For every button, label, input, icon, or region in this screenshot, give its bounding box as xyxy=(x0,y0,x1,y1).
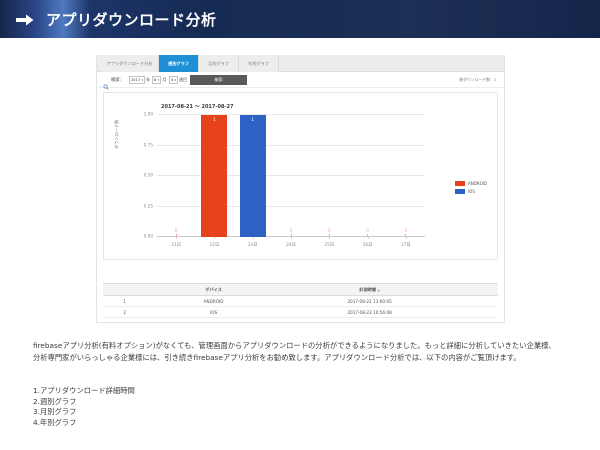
tab-bar: アプリダウンロード分析 週別グラフ 月別グラフ 年別グラフ xyxy=(97,55,504,72)
bar-value-label: 0 xyxy=(316,228,342,233)
x-axis-tick: 27日 xyxy=(401,242,411,248)
feature-list-item: 1.アプリダウンロード詳細時間 xyxy=(33,386,135,397)
bar-value-label: 0 xyxy=(393,228,419,233)
search-toolbar: 検索： 2017 ▾ 年 8 ▾ 月 4 ▾ 週目 検索 総ダウンロード数：2 xyxy=(97,72,504,88)
week-value: 4 xyxy=(171,78,173,82)
bar-value-label: 1 xyxy=(201,118,227,123)
grid-line: 1.00 xyxy=(157,114,425,115)
col-time-label: 計測時間 xyxy=(359,287,376,292)
year-select[interactable]: 2017 ▾ xyxy=(129,76,145,84)
legend-swatch xyxy=(455,181,465,186)
tab-label: アプリダウンロード分析 xyxy=(106,61,152,67)
y-axis-tick: 0.75 xyxy=(144,142,153,147)
row-index: 1 xyxy=(103,296,146,307)
legend-label: IOS xyxy=(468,189,475,194)
x-axis-tickmark xyxy=(214,237,215,239)
tab-yearly-graph[interactable]: 年別グラフ xyxy=(239,55,279,72)
bar-value-label: 1 xyxy=(240,118,266,123)
chart-bar-zero[interactable]: 0 xyxy=(393,228,419,237)
year-unit-label: 年 xyxy=(146,77,150,83)
download-detail-table: デバイス 計測時間▲ 1ANDROID2017-08-22 13:00:052I… xyxy=(103,283,498,318)
row-index: 2 xyxy=(103,307,146,318)
page-title: アプリダウンロード分析 xyxy=(46,9,217,30)
feature-list: 1.アプリダウンロード詳細時間2.週別グラフ3.月別グラフ4.年別グラフ xyxy=(33,386,135,428)
x-axis-tickmark xyxy=(406,237,407,239)
row-device: ANDROID xyxy=(146,296,280,307)
legend-item[interactable]: IOS xyxy=(455,189,487,194)
legend-label: ANDROID xyxy=(468,181,487,186)
tab-weekly-graph[interactable]: 週別グラフ xyxy=(159,55,199,72)
x-axis-tick: 24日 xyxy=(286,242,296,248)
chart-title: 2017-08-21 ～ 2017-08-27 xyxy=(161,103,233,110)
search-label: 検索： xyxy=(111,77,124,83)
y-axis-tick: 0.00 xyxy=(144,234,153,239)
chevron-down-icon: ▾ xyxy=(141,78,143,82)
tab-label: 年別グラフ xyxy=(248,61,269,67)
chevron-down-icon: ▾ xyxy=(174,78,176,82)
total-downloads-label: 総ダウンロード数：2 xyxy=(459,77,496,83)
col-spacer xyxy=(458,284,498,296)
x-axis-tickmark xyxy=(291,237,292,239)
sort-ascending-icon: ▲ xyxy=(378,288,380,292)
chevron-down-icon: ▾ xyxy=(157,78,159,82)
tab-label: 月別グラフ xyxy=(208,61,229,67)
year-value: 2017 xyxy=(131,78,140,82)
description-paragraph: firebaseアプリ分析(有料オプション)がなくても、管理画面からアプリダウン… xyxy=(33,340,563,364)
table-row[interactable]: 1ANDROID2017-08-22 13:00:05 xyxy=(103,296,498,307)
row-spacer xyxy=(458,307,498,318)
chart-bar[interactable]: 1 xyxy=(240,115,266,237)
grid-line: 0.25 xyxy=(157,206,425,207)
chart-bar-zero[interactable]: 0 xyxy=(355,228,381,237)
x-axis-tickmark xyxy=(176,237,177,239)
search-icon xyxy=(103,77,109,83)
x-axis-tick: 23日 xyxy=(248,242,258,248)
x-axis-tickmark xyxy=(329,237,330,239)
feature-list-item: 3.月別グラフ xyxy=(33,407,135,418)
x-axis-tick: 22日 xyxy=(210,242,220,248)
search-button[interactable]: 検索 xyxy=(190,75,247,85)
tab-app-download-analysis[interactable]: アプリダウンロード分析 xyxy=(101,55,159,72)
feature-list-item: 4.年別グラフ xyxy=(33,418,135,429)
y-axis-tick: 0.25 xyxy=(144,203,153,208)
page-header: アプリダウンロード分析 xyxy=(0,0,600,38)
x-axis-tick: 26日 xyxy=(363,242,373,248)
bar-value-label: 0 xyxy=(278,228,304,233)
app-screenshot-panel: アプリダウンロード分析 週別グラフ 月別グラフ 年別グラフ 検索： 2017 ▾… xyxy=(96,55,505,323)
header-gloss xyxy=(180,0,600,38)
month-select[interactable]: 8 ▾ xyxy=(152,76,161,84)
y-axis-tick: 1.00 xyxy=(144,112,153,117)
chart-y-axis-label: ダウンロード数 xyxy=(114,120,120,149)
feature-list-item: 2.週別グラフ xyxy=(33,397,135,408)
y-axis-tick: 0.50 xyxy=(144,173,153,178)
grid-line: 0.50 xyxy=(157,175,425,176)
week-unit-label: 週目 xyxy=(179,77,187,83)
chart-bar-zero[interactable]: 0 xyxy=(163,228,189,237)
month-unit-label: 月 xyxy=(163,77,167,83)
chart-plot-area: 0.000.250.500.751.00021日122日123日024日025日… xyxy=(157,115,425,237)
chart-legend: ANDROIDIOS xyxy=(455,181,487,197)
table-row[interactable]: 2IOS2017-08-23 10:56:08 xyxy=(103,307,498,318)
legend-swatch xyxy=(455,189,465,194)
tab-monthly-graph[interactable]: 月別グラフ xyxy=(199,55,239,72)
tab-label: 週別グラフ xyxy=(168,61,189,67)
month-value: 8 xyxy=(154,78,156,82)
row-device: IOS xyxy=(146,307,280,318)
chart-bar-zero[interactable]: 0 xyxy=(278,228,304,237)
x-axis-tick: 25日 xyxy=(324,242,334,248)
row-time: 2017-08-23 10:56:08 xyxy=(281,307,459,318)
table-header-row: デバイス 計測時間▲ xyxy=(103,284,498,296)
week-select[interactable]: 4 ▾ xyxy=(169,76,178,84)
grid-line: 0.75 xyxy=(157,145,425,146)
chart-bar-zero[interactable]: 0 xyxy=(316,228,342,237)
x-axis-tick: 21日 xyxy=(171,242,181,248)
col-index[interactable] xyxy=(103,284,146,296)
col-time[interactable]: 計測時間▲ xyxy=(281,284,459,296)
bar-value-label: 0 xyxy=(163,228,189,233)
legend-item[interactable]: ANDROID xyxy=(455,181,487,186)
x-axis-tickmark xyxy=(253,237,254,239)
chart-bar[interactable]: 1 xyxy=(201,115,227,237)
chart-container: 2017-08-21 ～ 2017-08-27 ダウンロード数 0.000.25… xyxy=(103,92,498,260)
row-spacer xyxy=(458,296,498,307)
x-axis-tickmark xyxy=(368,237,369,239)
row-time: 2017-08-22 13:00:05 xyxy=(281,296,459,307)
bar-value-label: 0 xyxy=(355,228,381,233)
col-device[interactable]: デバイス xyxy=(146,284,280,296)
